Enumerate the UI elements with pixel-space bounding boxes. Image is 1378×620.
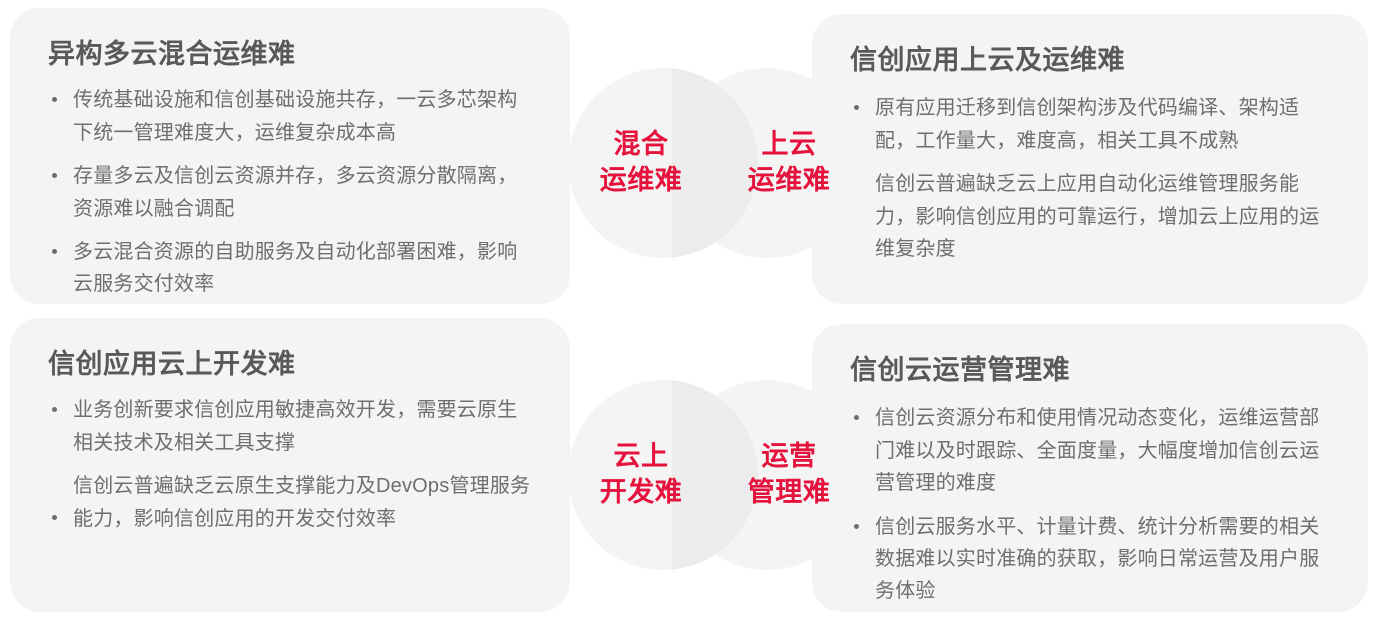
bullet-text: 信创云资源分布和使用情况动态变化，运维运营部门难以及时跟踪、全面度量，大幅度增加… <box>875 407 1319 494</box>
bullet-list: 原有应用迁移到信创架构涉及代码编译、架构适配，工作量大，难度高，相关工具不成熟 … <box>850 92 1338 265</box>
venn-label-line2: 管理难 <box>748 475 831 511</box>
bullet-text: 信创云普遍缺乏云原生支撑能力及DevOps管理服务能力，影响信创应用的开发交付效… <box>73 475 530 529</box>
bullet-text: 传统基础设施和信创基础设施共存，一云多芯架构下统一管理难度大，运维复杂成本高 <box>73 89 517 143</box>
venn-label-cloud-migration-ops: 上云 运维难 <box>694 68 884 258</box>
bullet-text: 存量多云及信创云资源并存，多云资源分散隔离，资源难以融合调配 <box>73 165 517 219</box>
venn-label-line2: 运维难 <box>748 163 831 199</box>
bullet-text: 信创云服务水平、计量计费、统计分析需要的相关数据难以实时准确的获取，影响日常运营… <box>875 516 1319 603</box>
bullet-item: 信创云普遍缺乏云上应用自动化运维管理服务能力，影响信创应用的可靠运行，增加云上应… <box>850 168 1338 265</box>
bullet-item: 信创云资源分布和使用情况动态变化，运维运营部门难以及时跟踪、全面度量，大幅度增加… <box>850 402 1338 499</box>
venn-label-line2: 运维难 <box>600 163 683 199</box>
card-title: 异构多云混合运维难 <box>48 38 536 70</box>
card-title: 信创应用上云及运维难 <box>850 44 1338 76</box>
bullet-item: 信创云普遍缺乏云原生支撑能力及DevOps管理服务能力，影响信创应用的开发交付效… <box>48 470 536 535</box>
card-app-cloud-migration-ops: 信创应用上云及运维难 原有应用迁移到信创架构涉及代码编译、架构适配，工作量大，难… <box>812 14 1368 304</box>
card-content: 信创应用上云及运维难 原有应用迁移到信创架构涉及代码编译、架构适配，工作量大，难… <box>812 14 1368 265</box>
card-content: 信创应用云上开发难 业务创新要求信创应用敏捷高效开发，需要云原生相关技术及相关工… <box>10 318 570 535</box>
venn-label-line1: 运营 <box>762 439 817 475</box>
venn-label-line1: 混合 <box>614 127 669 163</box>
card-cloud-native-development: 信创应用云上开发难 业务创新要求信创应用敏捷高效开发，需要云原生相关技术及相关工… <box>10 318 570 612</box>
venn-label-line1: 上云 <box>762 127 817 163</box>
card-content: 信创云运营管理难 信创云资源分布和使用情况动态变化，运维运营部门难以及时跟踪、全… <box>812 324 1368 608</box>
bullet-list: 业务创新要求信创应用敏捷高效开发，需要云原生相关技术及相关工具支撑 信创云普遍缺… <box>48 394 536 535</box>
bullet-list: 信创云资源分布和使用情况动态变化，运维运营部门难以及时跟踪、全面度量，大幅度增加… <box>850 402 1338 607</box>
venn-diagram-top: 混合 运维难 上云 运维难 <box>568 68 862 260</box>
venn-label-line1: 云上 <box>614 439 669 475</box>
bullet-text: 业务创新要求信创应用敏捷高效开发，需要云原生相关技术及相关工具支撑 <box>73 399 517 453</box>
bullet-item: 原有应用迁移到信创架构涉及代码编译、架构适配，工作量大，难度高，相关工具不成熟 <box>850 92 1338 157</box>
infographic-canvas: 异构多云混合运维难 传统基础设施和信创基础设施共存，一云多芯架构下统一管理难度大… <box>0 0 1378 620</box>
bullet-dot-icon <box>52 249 57 254</box>
bullet-item: 传统基础设施和信创基础设施共存，一云多芯架构下统一管理难度大，运维复杂成本高 <box>48 84 536 149</box>
venn-diagram-bottom: 云上 开发难 运营 管理难 <box>568 380 862 572</box>
bullet-item: 业务创新要求信创应用敏捷高效开发，需要云原生相关技术及相关工具支撑 <box>48 394 536 459</box>
bullet-dot-icon <box>52 407 57 412</box>
card-content: 异构多云混合运维难 传统基础设施和信创基础设施共存，一云多芯架构下统一管理难度大… <box>10 8 570 301</box>
venn-label-operations-management: 运营 管理难 <box>694 380 884 570</box>
bullet-text: 多云混合资源的自助服务及自动化部署困难，影响云服务交付效率 <box>73 241 517 295</box>
venn-label-line2: 开发难 <box>600 475 683 511</box>
bullet-text: 原有应用迁移到信创架构涉及代码编译、架构适配，工作量大，难度高，相关工具不成熟 <box>875 97 1299 151</box>
bullet-dot-icon <box>52 515 57 520</box>
bullet-item: 信创云服务水平、计量计费、统计分析需要的相关数据难以实时准确的获取，影响日常运营… <box>850 511 1338 608</box>
card-cloud-operations-management: 信创云运营管理难 信创云资源分布和使用情况动态变化，运维运营部门难以及时跟踪、全… <box>812 324 1368 612</box>
card-title: 信创云运营管理难 <box>850 354 1338 386</box>
bullet-item: 多云混合资源的自助服务及自动化部署困难，影响云服务交付效率 <box>48 236 536 301</box>
bullet-item: 存量多云及信创云资源并存，多云资源分散隔离，资源难以融合调配 <box>48 160 536 225</box>
bullet-list: 传统基础设施和信创基础设施共存，一云多芯架构下统一管理难度大，运维复杂成本高 存… <box>48 84 536 300</box>
bullet-dot-icon <box>52 173 57 178</box>
card-title: 信创应用云上开发难 <box>48 348 536 380</box>
bullet-text: 信创云普遍缺乏云上应用自动化运维管理服务能力，影响信创应用的可靠运行，增加云上应… <box>875 173 1319 260</box>
bullet-dot-icon <box>52 97 57 102</box>
card-heterogeneous-multicloud-ops: 异构多云混合运维难 传统基础设施和信创基础设施共存，一云多芯架构下统一管理难度大… <box>10 8 570 304</box>
